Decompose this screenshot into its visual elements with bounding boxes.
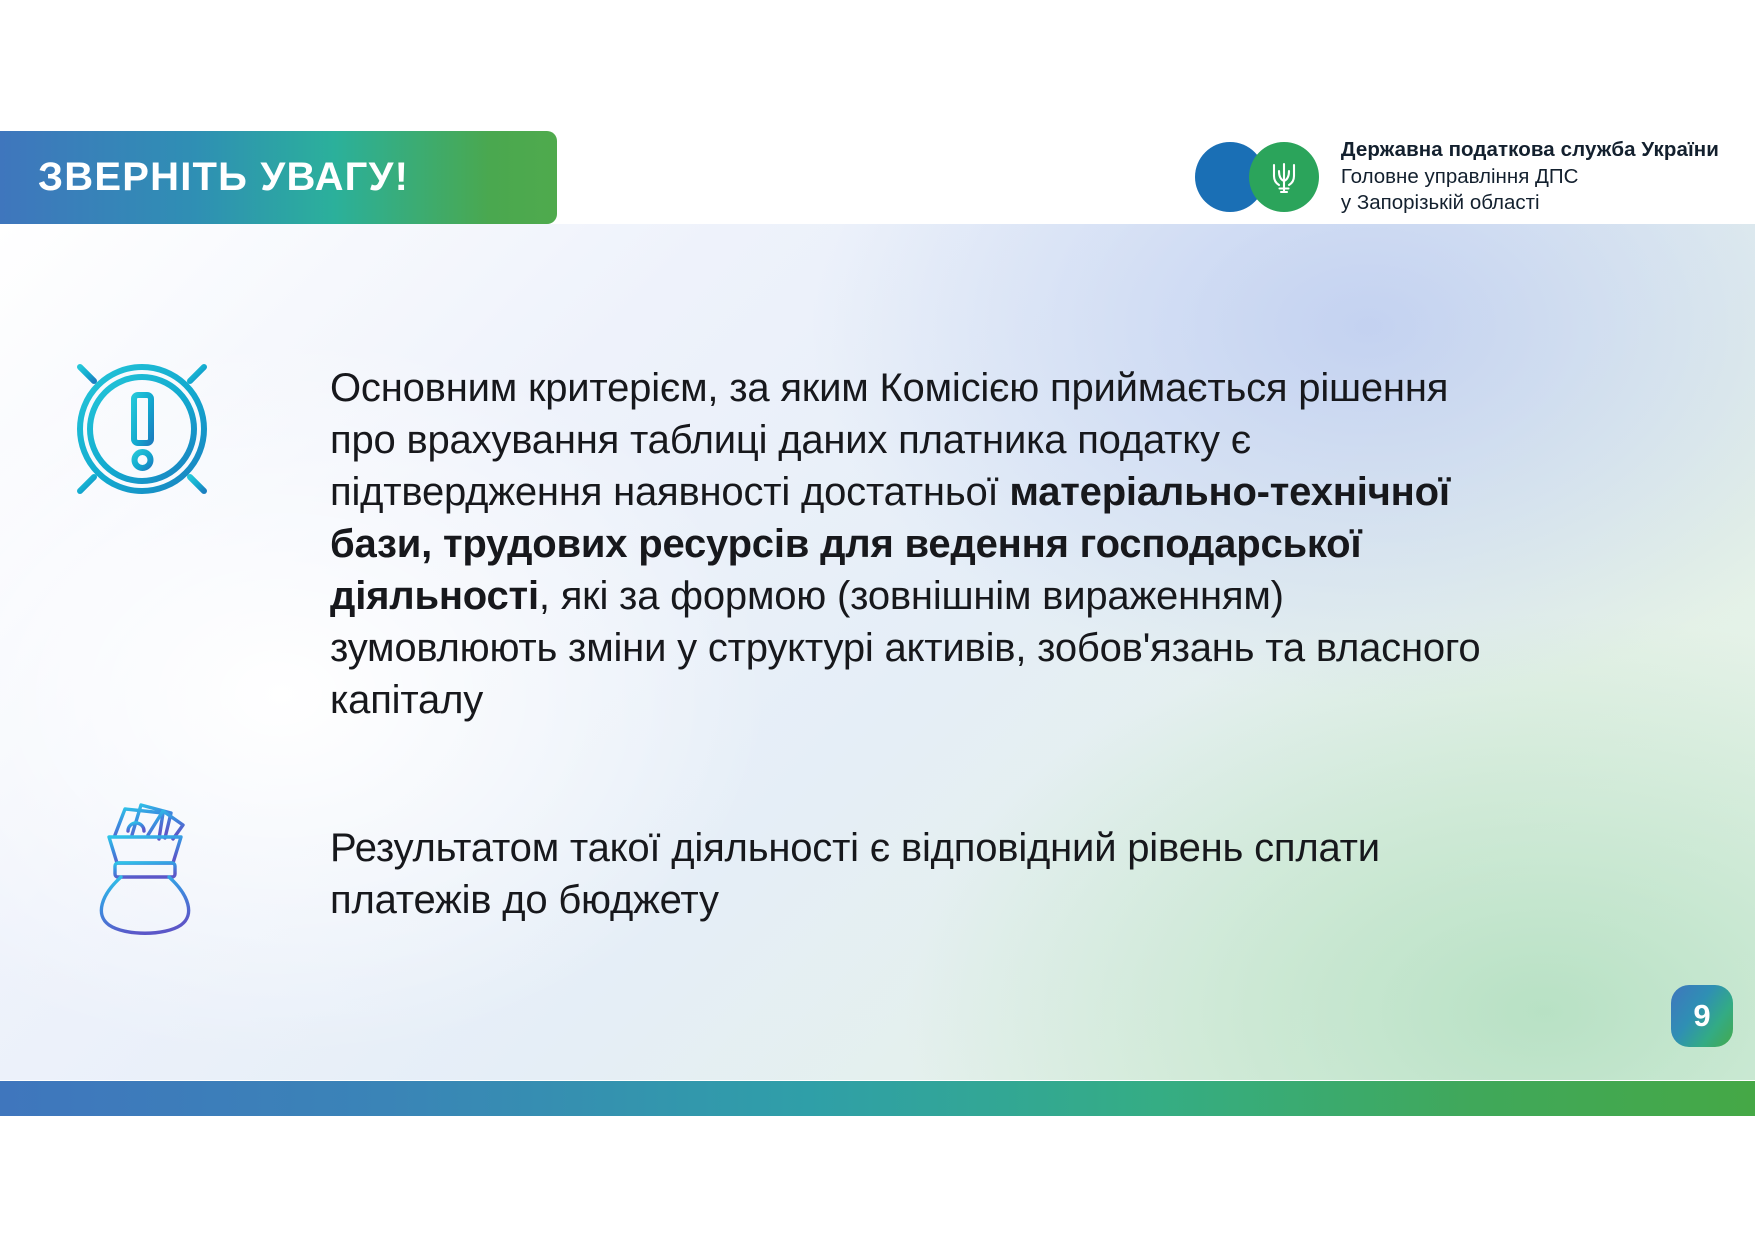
money-bag-icon	[85, 795, 205, 935]
page-number-value: 9	[1693, 998, 1710, 1034]
green-circle-icon	[1249, 142, 1319, 212]
body-text-column: Основним критерієм, за яким Комісією при…	[330, 362, 1510, 926]
trident-icon	[1269, 157, 1299, 197]
bottom-gradient-bar	[0, 1081, 1755, 1116]
logo-line-2: Головне управління ДПС	[1341, 164, 1719, 191]
exclamation-alert-icon	[45, 337, 240, 517]
logo-text-block: Державна податкова служба України Головн…	[1341, 137, 1719, 217]
logo-marks	[1195, 136, 1339, 218]
paragraph-result: Результатом такої діяльності є відповідн…	[330, 822, 1510, 926]
logo-line-3: у Запорізькій області	[1341, 190, 1719, 217]
paragraph-main: Основним критерієм, за яким Комісією при…	[330, 362, 1510, 726]
bottom-white-strip	[0, 1116, 1755, 1240]
page-title: ЗВЕРНІТЬ УВАГУ!	[0, 155, 409, 200]
organization-logo: Державна податкова служба України Головн…	[1195, 136, 1719, 218]
logo-line-1: Державна податкова служба України	[1341, 137, 1719, 164]
slide-root: ЗВЕРНІТЬ УВАГУ! Державна подат	[0, 0, 1755, 1240]
page-number-badge: 9	[1671, 985, 1733, 1047]
attention-title-banner: ЗВЕРНІТЬ УВАГУ!	[0, 131, 557, 224]
top-white-strip	[0, 0, 1755, 127]
